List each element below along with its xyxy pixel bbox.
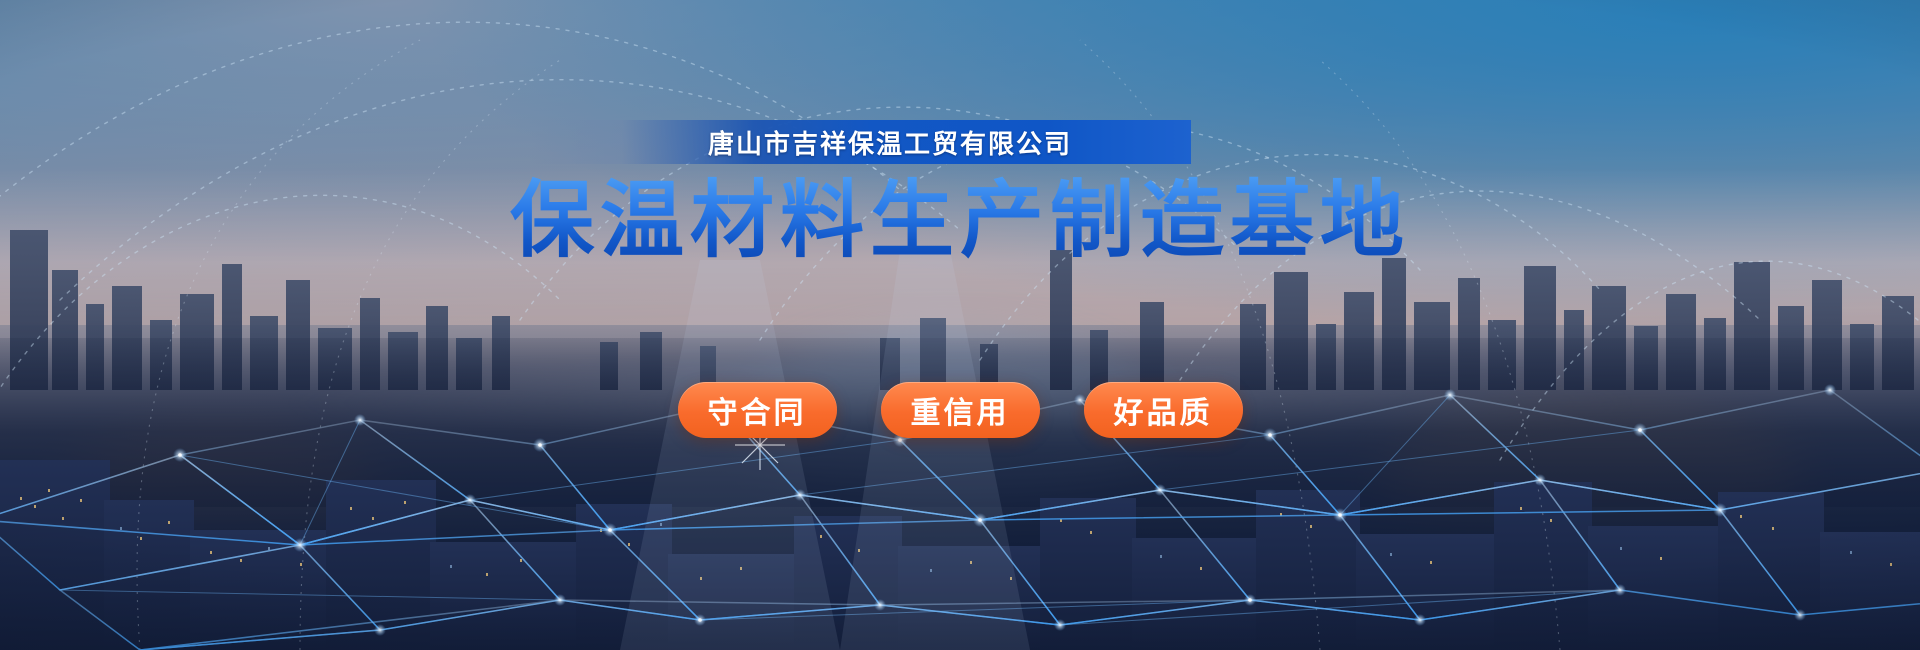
banner-content: 唐山市吉祥保温工贸有限公司 保温材料生产制造基地 保温材料生产制造基地 守合同 … <box>0 0 1920 650</box>
badge-contract[interactable]: 守合同 <box>678 382 837 438</box>
hero-banner: 唐山市吉祥保温工贸有限公司 保温材料生产制造基地 保温材料生产制造基地 守合同 … <box>0 0 1920 650</box>
headline-block: 保温材料生产制造基地 保温材料生产制造基地 <box>0 176 1920 265</box>
headline-wrap: 保温材料生产制造基地 保温材料生产制造基地 <box>510 176 1410 265</box>
company-name-bar: 唐山市吉祥保温工贸有限公司 <box>529 120 1191 164</box>
badge-quality[interactable]: 好品质 <box>1084 382 1243 438</box>
badge-group: 守合同 重信用 好品质 <box>0 382 1920 438</box>
badge-credit[interactable]: 重信用 <box>881 382 1040 438</box>
page-title: 保温材料生产制造基地 <box>510 176 1410 265</box>
company-name-text: 唐山市吉祥保温工贸有限公司 <box>648 124 1072 161</box>
